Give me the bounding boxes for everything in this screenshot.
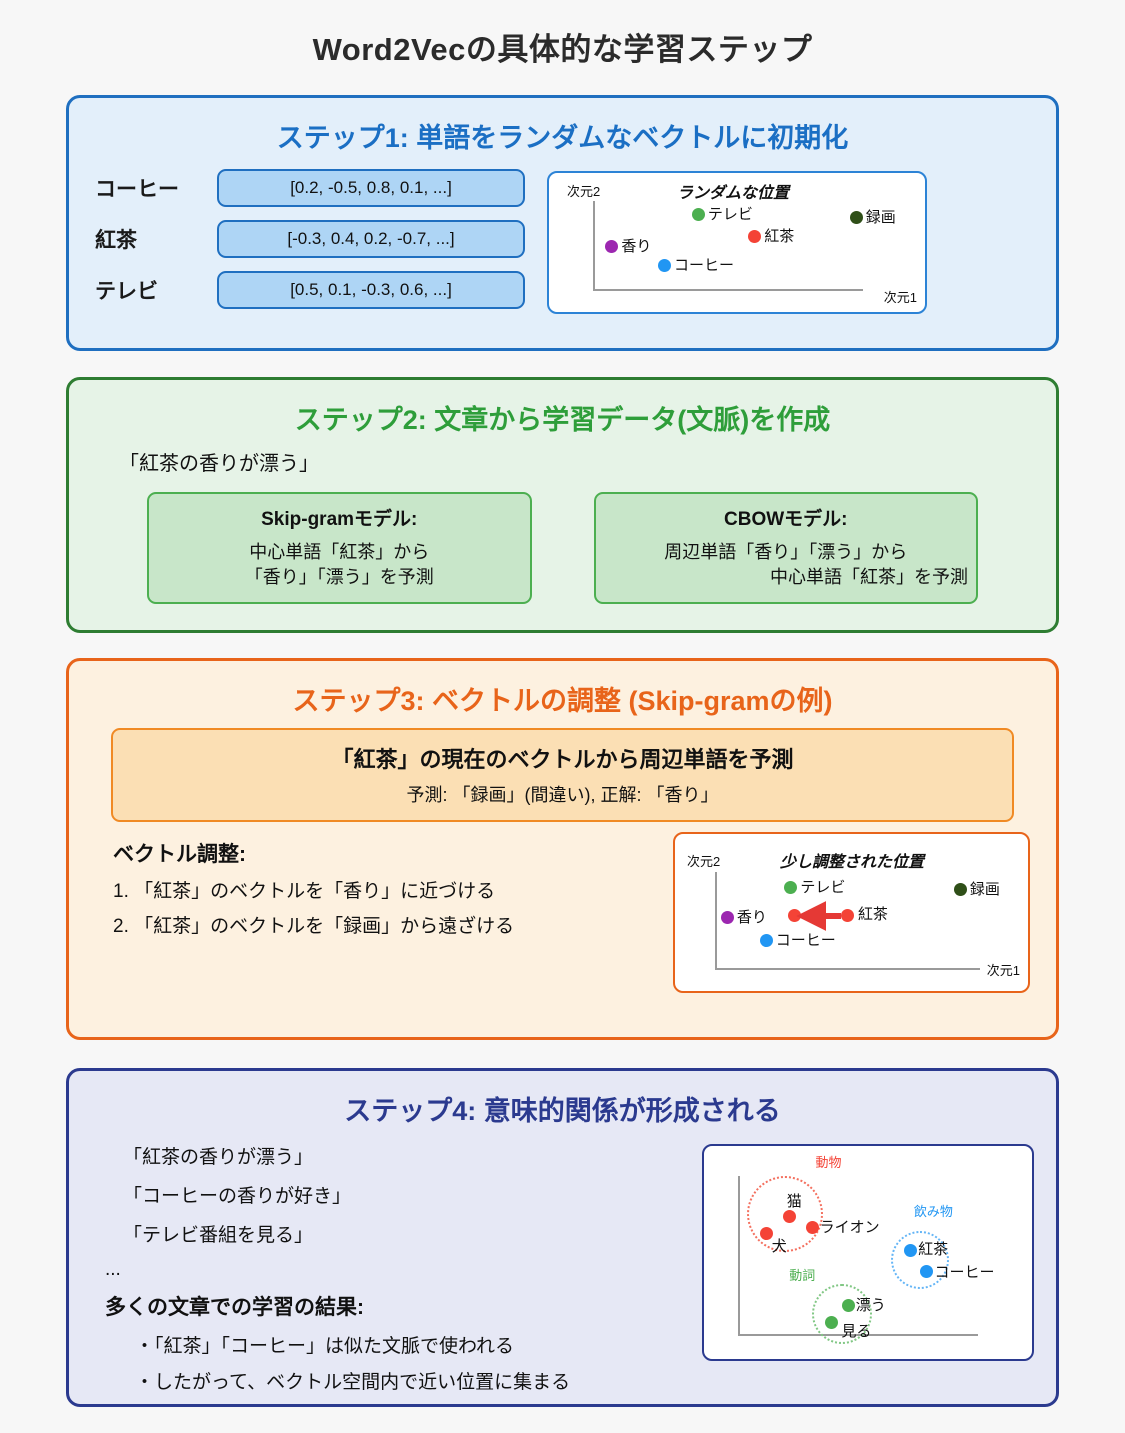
data-point-dot [658, 259, 671, 272]
y-axis-line [593, 201, 595, 291]
data-point-dot [784, 881, 797, 894]
step1-vector-list: コーヒー [0.2, -0.5, 0.8, 0.1, ...] 紅茶 [-0.3… [95, 169, 525, 322]
data-point-label: 犬 [772, 1235, 787, 1256]
data-point-label: テレビ [800, 876, 845, 897]
y-axis-label: 次元2 [567, 181, 600, 200]
vector-value-box: [0.2, -0.5, 0.8, 0.1, ...] [217, 169, 525, 207]
data-point-dot [748, 230, 761, 243]
step1-panel: ステップ1: 単語をランダムなベクトルに初期化 コーヒー [0.2, -0.5,… [66, 95, 1059, 351]
vector-row: 紅茶 [-0.3, 0.4, 0.2, -0.7, ...] [95, 220, 525, 258]
step4-text-column: 「紅茶の香りが漂う」 「コーヒーの香りが好き」 「テレビ番組を見る」 ... 多… [105, 1142, 702, 1403]
data-point-label: 漂う [856, 1294, 886, 1315]
data-point-label: コーヒー [776, 929, 836, 950]
ellipsis-text: ... [105, 1259, 702, 1281]
data-point-dot [783, 1210, 796, 1223]
data-point-label: テレビ [708, 203, 753, 224]
result-heading: 多くの文章での学習の結果: [105, 1291, 702, 1321]
data-point-dot [954, 883, 967, 896]
prediction-main-text: 「紅茶」の現在のベクトルから周辺単語を予測 [123, 742, 1002, 774]
plot-title: 少し調整された位置 [780, 848, 924, 872]
skipgram-model-box: Skip-gramモデル: 中心単語「紅茶」から 「香り」「漂う」を予測 [147, 492, 532, 604]
step4-cluster-plot: 動物 猫 ライオン 犬 飲み物 紅茶 コーヒー 動詞 漂う 見る [702, 1144, 1034, 1361]
data-point-dot [721, 911, 734, 924]
x-axis-line [593, 289, 863, 291]
page-title: Word2Vecの具体的な学習ステップ [0, 0, 1125, 69]
x-axis-line [715, 968, 980, 970]
x-axis-label: 次元1 [884, 287, 917, 306]
adjustment-heading: ベクトル調整: [113, 838, 673, 868]
data-point-label: コーヒー [674, 254, 734, 275]
data-point-dot [692, 208, 705, 221]
adjustment-item: 2. 「紅茶」のベクトルを「録画」から遠ざける [113, 911, 673, 938]
data-point-label: 録画 [866, 206, 896, 227]
adjustment-item: 1. 「紅茶」のベクトルを「香り」に近づける [113, 876, 673, 903]
example-sentence: 「コーヒーの香りが好き」 [105, 1181, 702, 1208]
model-desc-line: 中心単語「紅茶」を予測 [604, 565, 969, 590]
example-sentence: 「テレビ番組を見る」 [105, 1220, 702, 1247]
step3-scatter-plot: 少し調整された位置 次元2 次元1 テレビ 録画 紅茶 [673, 832, 1030, 993]
data-point-label: 香り [737, 906, 767, 927]
plot-title: ランダムな位置 [677, 179, 789, 203]
data-point-label: 猫 [787, 1190, 802, 1211]
step3-title: ステップ3: ベクトルの調整 (Skip-gramの例) [69, 679, 1056, 718]
model-desc-line: 「香り」「漂う」を予測 [157, 565, 522, 590]
vector-word-label: テレビ [95, 275, 217, 305]
prediction-box: 「紅茶」の現在のベクトルから周辺単語を予測 予測: 「録画」(間違い), 正解:… [111, 728, 1014, 822]
vector-value-box: [0.5, 0.1, -0.3, 0.6, ...] [217, 271, 525, 309]
result-bullet: ・したがって、ベクトル空間内で近い位置に集まる [105, 1367, 702, 1394]
x-axis-label: 次元1 [987, 960, 1020, 979]
cluster-label: 動物 [816, 1152, 842, 1171]
step4-title: ステップ4: 意味的関係が形成される [69, 1089, 1056, 1128]
data-point-dot-shifted [788, 909, 801, 922]
data-point-dot [760, 934, 773, 947]
model-name: Skip-gramモデル: [157, 504, 522, 531]
vector-word-label: 紅茶 [95, 224, 217, 254]
y-axis-label: 次元2 [687, 851, 720, 870]
data-point-dot [605, 240, 618, 253]
step2-panel: ステップ2: 文章から学習データ(文脈)を作成 「紅茶の香りが漂う」 Skip-… [66, 377, 1059, 633]
vector-value-box: [-0.3, 0.4, 0.2, -0.7, ...] [217, 220, 525, 258]
vector-row: コーヒー [0.2, -0.5, 0.8, 0.1, ...] [95, 169, 525, 207]
data-point-label: 見る [841, 1320, 871, 1341]
cbow-model-box: CBOWモデル: 周辺単語「香り」「漂う」から 中心単語「紅茶」を予測 [594, 492, 979, 604]
step4-panel: ステップ4: 意味的関係が形成される 「紅茶の香りが漂う」 「コーヒーの香りが好… [66, 1068, 1059, 1407]
data-point-label: 紅茶 [918, 1238, 948, 1259]
data-point-label: ライオン [820, 1216, 880, 1237]
step2-title: ステップ2: 文章から学習データ(文脈)を作成 [69, 398, 1056, 437]
cluster-label: 飲み物 [914, 1201, 953, 1220]
data-point-label: コーヒー [934, 1261, 994, 1282]
data-point-dot [850, 211, 863, 224]
example-sentence: 「紅茶の香りが漂う」 [105, 1142, 702, 1169]
y-axis-line [738, 1176, 740, 1336]
step1-scatter-plot: ランダムな位置 次元2 次元1 テレビ 録画 紅茶 香り コーヒー [547, 171, 927, 314]
data-point-dot [904, 1244, 917, 1257]
y-axis-line [715, 872, 717, 970]
step3-panel: ステップ3: ベクトルの調整 (Skip-gramの例) 「紅茶」の現在のベクト… [66, 658, 1059, 1040]
vector-row: テレビ [0.5, 0.1, -0.3, 0.6, ...] [95, 271, 525, 309]
model-name: CBOWモデル: [604, 504, 969, 531]
step3-adjustment-list: ベクトル調整: 1. 「紅茶」のベクトルを「香り」に近づける 2. 「紅茶」のベ… [113, 838, 673, 993]
cluster-label: 動詞 [789, 1265, 815, 1284]
step1-title: ステップ1: 単語をランダムなベクトルに初期化 [69, 116, 1056, 155]
data-point-dot [806, 1221, 819, 1234]
data-point-dot [841, 909, 854, 922]
model-desc-line: 中心単語「紅茶」から [157, 540, 522, 565]
data-point-label: 紅茶 [858, 903, 888, 924]
data-point-label: 紅茶 [764, 225, 794, 246]
model-desc-line: 周辺単語「香り」「漂う」から [604, 540, 969, 565]
result-bullet: ・「紅茶」「コーヒー」は似た文脈で使われる [105, 1331, 702, 1358]
data-point-label: 香り [621, 235, 651, 256]
data-point-label: 録画 [970, 878, 1000, 899]
vector-word-label: コーヒー [95, 173, 217, 203]
prediction-sub-text: 予測: 「録画」(間違い), 正解: 「香り」 [123, 781, 1002, 807]
step2-example-sentence: 「紅茶の香りが漂う」 [119, 447, 1056, 476]
